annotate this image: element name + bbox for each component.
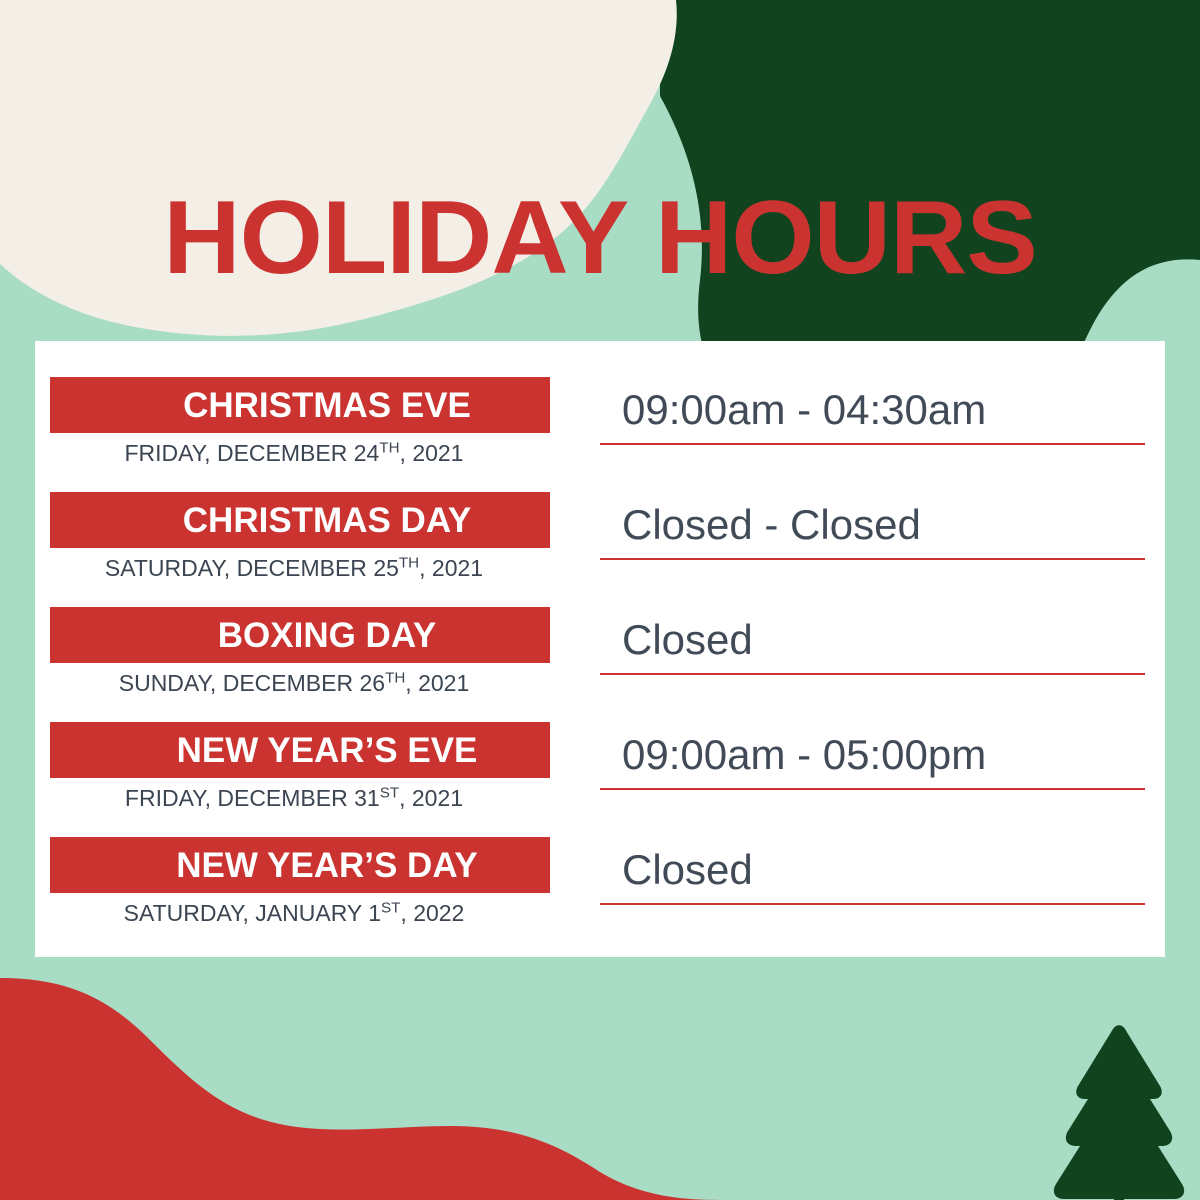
row-right-block: Closed - Closed [600,492,1145,560]
hours-row: NEW YEAR’S DAY SATURDAY, JANUARY 1ST, 20… [35,837,1165,952]
date-ordinal: ST [381,899,400,916]
holiday-name: CHRISTMAS EVE [183,388,471,423]
hours-card: CHRISTMAS EVE FRIDAY, DECEMBER 24TH, 202… [35,341,1165,957]
holiday-name: NEW YEAR’S EVE [177,733,478,768]
holiday-hours-value: Closed [600,607,1145,673]
row-right-block: 09:00am - 05:00pm [600,722,1145,790]
holiday-date: FRIDAY, DECEMBER 24TH, 2021 [50,440,550,466]
hours-underline [600,558,1145,560]
holiday-hours-value: 09:00am - 04:30am [600,377,1145,443]
hours-row-list: CHRISTMAS EVE FRIDAY, DECEMBER 24TH, 202… [35,341,1165,957]
row-left-block: BOXING DAY SUNDAY, DECEMBER 26TH, 2021 [50,607,550,696]
row-left-block: CHRISTMAS EVE FRIDAY, DECEMBER 24TH, 202… [50,377,550,466]
page-title: HOLIDAY HOURS [0,186,1200,290]
date-day: 31 [354,785,380,811]
hours-row: NEW YEAR’S EVE FRIDAY, DECEMBER 31ST, 20… [35,722,1165,837]
date-day: 24 [354,440,380,466]
date-day: 25 [373,555,399,581]
row-left-block: NEW YEAR’S EVE FRIDAY, DECEMBER 31ST, 20… [50,722,550,811]
date-weekday: SATURDAY, [124,900,249,926]
holiday-name: CHRISTMAS DAY [183,503,471,538]
row-right-block: Closed [600,837,1145,905]
holiday-date: SATURDAY, DECEMBER 25TH, 2021 [50,555,550,581]
holiday-label-bar: NEW YEAR’S EVE [50,722,550,778]
holiday-date: SATURDAY, JANUARY 1ST, 2022 [50,900,550,926]
date-month: DECEMBER [217,785,347,811]
holiday-name: BOXING DAY [218,618,436,653]
holiday-label-bar: CHRISTMAS DAY [50,492,550,548]
hours-row: CHRISTMAS DAY SATURDAY, DECEMBER 25TH, 2… [35,492,1165,607]
holiday-label-bar: BOXING DAY [50,607,550,663]
hours-underline [600,673,1145,675]
row-right-block: 09:00am - 04:30am [600,377,1145,445]
date-month: DECEMBER [223,670,353,696]
date-weekday: SUNDAY, [119,670,217,696]
date-ordinal: ST [380,784,399,801]
date-ordinal: TH [379,439,399,456]
date-day: 1 [368,900,381,926]
row-left-block: NEW YEAR’S DAY SATURDAY, JANUARY 1ST, 20… [50,837,550,926]
date-weekday: SATURDAY, [105,555,230,581]
holiday-date: FRIDAY, DECEMBER 31ST, 2021 [50,785,550,811]
hours-underline [600,788,1145,790]
holiday-hours-value: Closed - Closed [600,492,1145,558]
date-day: 26 [359,670,385,696]
hours-row: CHRISTMAS EVE FRIDAY, DECEMBER 24TH, 202… [35,377,1165,492]
date-year: 2022 [413,900,464,926]
holiday-hours-value: 09:00am - 05:00pm [600,722,1145,788]
date-ordinal: TH [399,554,419,571]
date-month: DECEMBER [237,555,367,581]
date-ordinal: TH [385,669,405,686]
date-weekday: FRIDAY, [125,785,211,811]
holiday-label-bar: CHRISTMAS EVE [50,377,550,433]
date-month: DECEMBER [217,440,347,466]
row-left-block: CHRISTMAS DAY SATURDAY, DECEMBER 25TH, 2… [50,492,550,581]
date-month: JANUARY [255,900,362,926]
date-year: 2021 [432,555,483,581]
holiday-date: SUNDAY, DECEMBER 26TH, 2021 [50,670,550,696]
hours-underline [600,903,1145,905]
holiday-hours-value: Closed [600,837,1145,903]
date-year: 2021 [412,440,463,466]
date-year: 2021 [418,670,469,696]
holiday-hours-poster: HOLIDAY HOURS CHRISTMAS EVE FRIDAY, DECE… [0,0,1200,1200]
date-weekday: FRIDAY, [125,440,211,466]
holiday-name: NEW YEAR’S DAY [176,848,477,883]
row-right-block: Closed [600,607,1145,675]
hours-row: BOXING DAY SUNDAY, DECEMBER 26TH, 2021 C… [35,607,1165,722]
date-year: 2021 [412,785,463,811]
hours-underline [600,443,1145,445]
holiday-label-bar: NEW YEAR’S DAY [50,837,550,893]
